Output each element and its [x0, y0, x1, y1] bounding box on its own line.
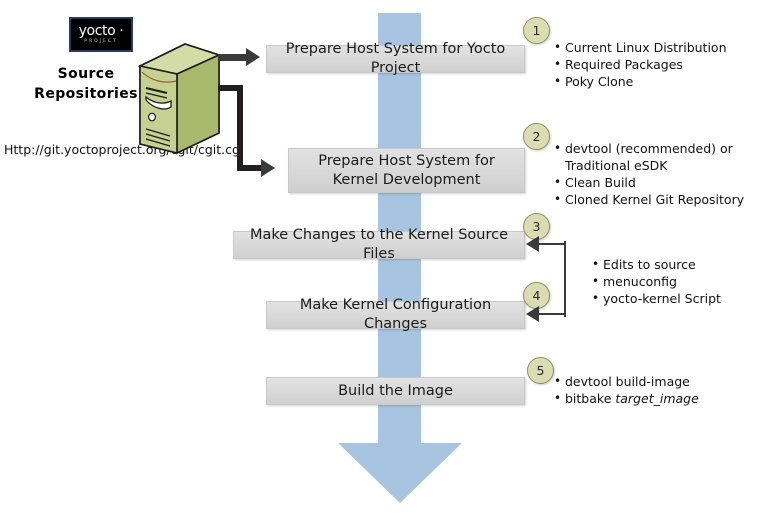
list-item: devtool (recommended) or Traditional eSD…	[565, 140, 767, 174]
step-5-bullets: devtool build-image bitbake target_image	[552, 373, 767, 407]
list-item: menuconfig	[603, 273, 769, 290]
bracket-horizontal-step-4	[538, 313, 566, 315]
logo-wordmark: yocto ·	[79, 24, 124, 38]
bracket-vertical-steps-3-4	[564, 241, 566, 317]
step-box-1[interactable]: Prepare Host System for Yocto Project	[266, 45, 525, 73]
list-item: Current Linux Distribution	[565, 39, 767, 56]
arrow-head-to-step2	[261, 159, 275, 177]
list-item: bitbake target_image	[565, 390, 767, 407]
source-label-line2: Repositories	[26, 84, 146, 104]
list-item: Required Packages	[565, 56, 767, 73]
arrow-head-to-step3	[526, 236, 539, 252]
step-box-5[interactable]: Build the Image	[266, 377, 525, 405]
step-1-bullets: Current Linux Distribution Required Pack…	[552, 39, 767, 90]
step-box-3[interactable]: Make Changes to the Kernel Source Files	[233, 231, 525, 259]
list-item: Edits to source	[603, 256, 769, 273]
list-item: Poky Clone	[565, 73, 767, 90]
logo-subtext: PROJECT	[84, 40, 117, 45]
step-box-2[interactable]: Prepare Host System for Kernel Developme…	[288, 148, 525, 193]
server-tower-icon	[137, 41, 222, 156]
diagram-canvas: yocto · PROJECT Source Repositories Http…	[0, 0, 769, 517]
bracket-horizontal-step-3	[538, 243, 566, 245]
step-number-1: 1	[523, 17, 550, 44]
step-2-bullets: devtool (recommended) or Traditional eSD…	[552, 140, 767, 208]
arrow-head-to-step1	[246, 48, 260, 66]
connector-server-to-step2-horizontal-bottom	[237, 165, 263, 171]
step-box-4[interactable]: Make Kernel Configuration Changes	[266, 301, 525, 329]
flow-arrow-head	[338, 443, 462, 503]
list-item: yocto-kernel Script	[603, 290, 769, 307]
step-number-2: 2	[523, 123, 550, 150]
source-label-line1: Source	[26, 64, 146, 84]
connector-server-to-step2-vertical	[237, 85, 243, 171]
list-item: devtool build-image	[565, 373, 767, 390]
step-number-5: 5	[527, 357, 554, 384]
bitbake-command-prefix: bitbake	[565, 391, 615, 406]
yocto-project-logo: yocto · PROJECT	[69, 17, 133, 52]
source-repositories-label: Source Repositories	[26, 64, 146, 104]
step-number-4: 4	[523, 282, 550, 309]
arrow-head-to-step4	[526, 306, 539, 322]
bitbake-target-placeholder: target_image	[615, 391, 698, 406]
list-item: Cloned Kernel Git Repository	[565, 191, 767, 208]
list-item: Clean Build	[565, 174, 767, 191]
connector-server-to-step1	[218, 54, 248, 61]
steps-3-4-shared-bullets: Edits to source menuconfig yocto-kernel …	[590, 256, 769, 307]
